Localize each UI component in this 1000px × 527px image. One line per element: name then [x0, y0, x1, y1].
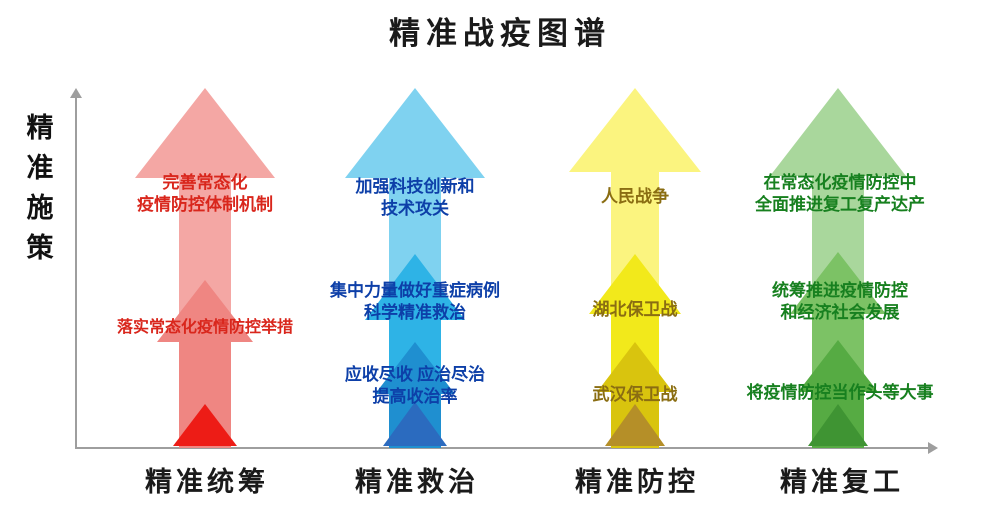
arrow-svg-red	[95, 86, 315, 448]
arrow-text-block: 集中力量做好重症病例 科学精准救治	[305, 280, 525, 324]
arrow-text-block: 应收尽收 应治尽治 提高收治率	[305, 364, 525, 408]
arrow-text-block: 完善常态化 疫情防控体制机制	[95, 172, 315, 216]
y-axis-label: 精准施策	[18, 108, 62, 268]
x-axis-category-label: 精准救治	[305, 460, 525, 499]
arrow-column-precise-resumption: 在常态化疫情防控中 全面推进复工复产达产 统筹推进疫情防控 和经济社会发展 将疫…	[730, 86, 950, 448]
x-axis-category-label: 精准统筹	[95, 460, 315, 499]
arrow-text-block: 落实常态化疫情防控举措	[95, 318, 315, 338]
arrow-text-block: 湖北保卫战	[525, 299, 745, 321]
arrow-column-precise-coordination: 完善常态化 疫情防控体制机制 落实常态化疫情防控举措	[95, 86, 315, 448]
arrow-column-precise-treatment: 加强科技创新和 技术攻关 集中力量做好重症病例 科学精准救治 应收尽收 应治尽治…	[305, 86, 525, 448]
infographic-canvas: 精准战疫图谱 精准施策 完善常态化 疫情防控体制机制 落实常态化疫情防控举措 加…	[0, 0, 1000, 527]
arrow-graphic-red	[95, 86, 315, 448]
arrow-text-block: 加强科技创新和 技术攻关	[305, 176, 525, 220]
arrow-column-precise-prevention: 人民战争 湖北保卫战 武汉保卫战	[525, 86, 745, 448]
x-axis-category-label: 精准复工	[730, 460, 950, 499]
y-axis-line	[75, 96, 77, 448]
arrow-text-block: 将疫情防控当作头等大事	[730, 382, 950, 404]
arrow-text-block: 统筹推进疫情防控 和经济社会发展	[730, 280, 950, 324]
arrow-text-block: 武汉保卫战	[525, 384, 745, 406]
arrow-text-block: 人民战争	[525, 186, 745, 208]
arrow-text-block: 在常态化疫情防控中 全面推进复工复产达产	[730, 172, 950, 216]
y-axis-arrowhead-icon	[70, 88, 82, 98]
x-axis-category-label: 精准防控	[525, 460, 745, 499]
page-title: 精准战疫图谱	[0, 8, 1000, 53]
